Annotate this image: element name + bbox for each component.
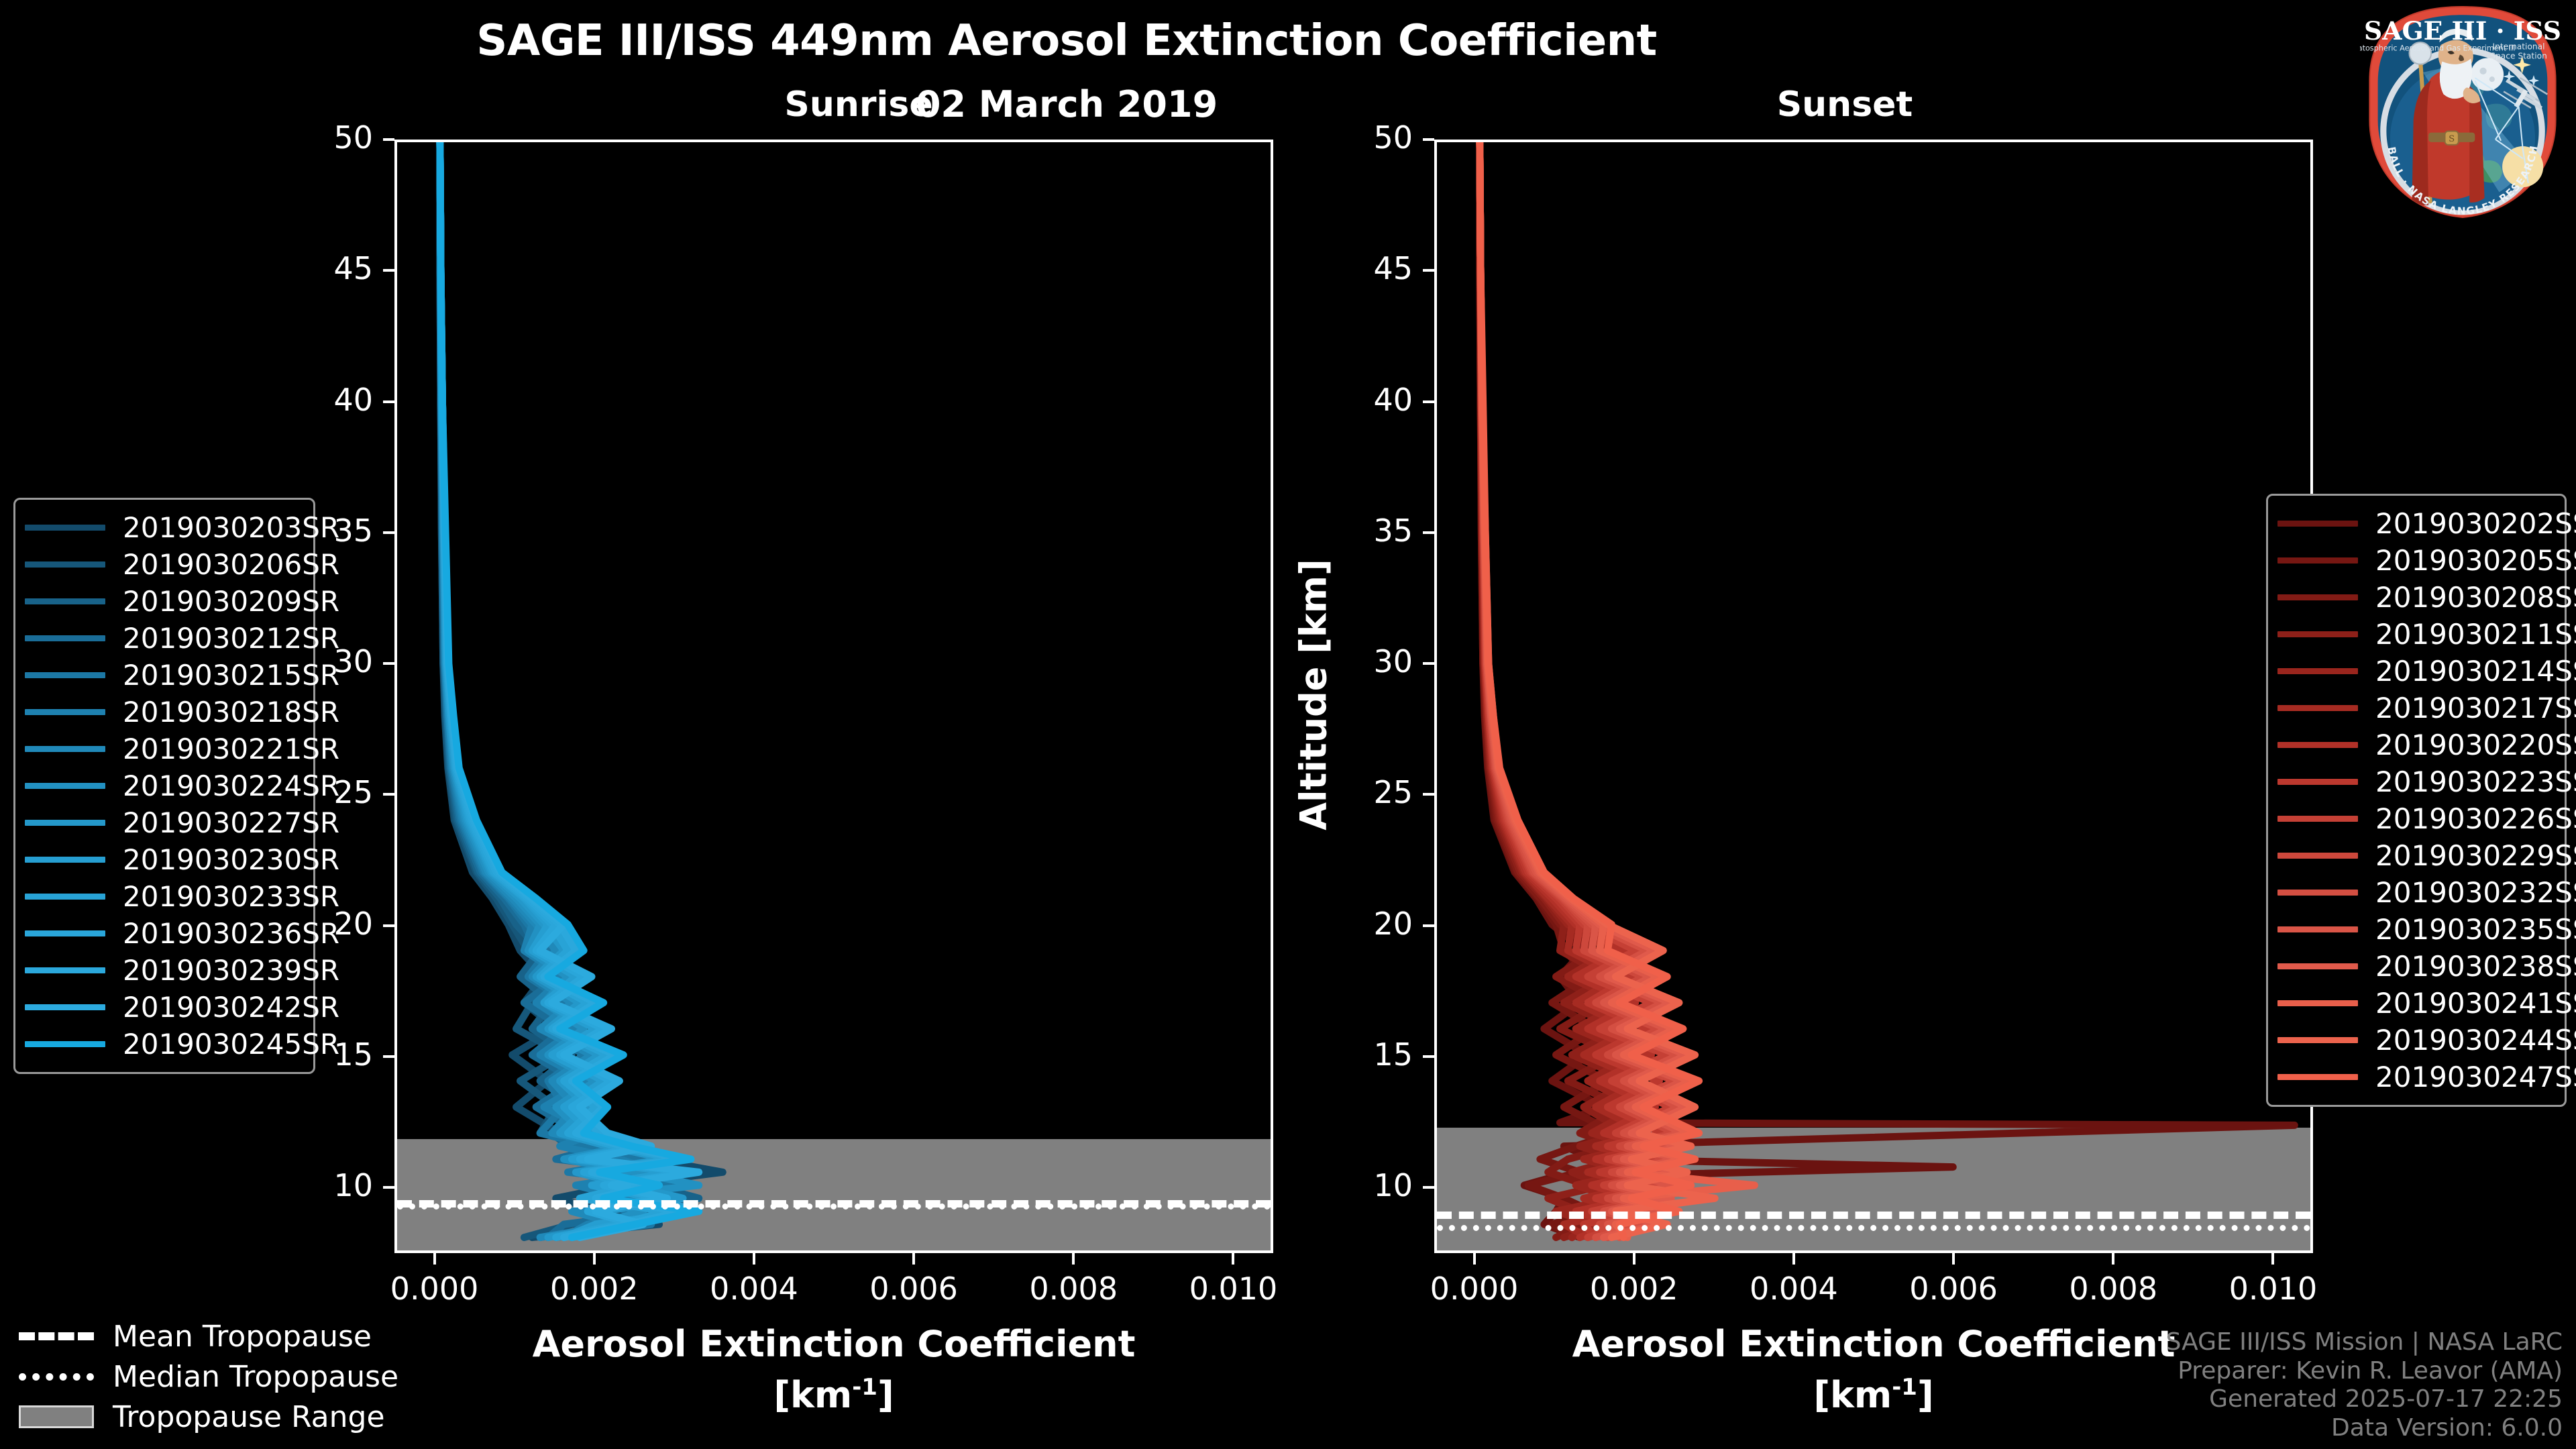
legend-item[interactable]: 2019030232SS	[2277, 874, 2553, 911]
legend-color-swatch	[2277, 779, 2358, 785]
legend-item[interactable]: 2019030203SR	[25, 509, 301, 546]
legend-color-swatch	[25, 783, 105, 789]
legend-item[interactable]: 2019030211SS	[2277, 616, 2553, 653]
legend-item-label: 2019030214SS	[2375, 655, 2576, 688]
x-tick-mark	[753, 1253, 755, 1265]
x-tick-mark	[593, 1253, 596, 1265]
legend-color-swatch	[2277, 816, 2358, 822]
legend-item-label: 2019030236SR	[123, 917, 339, 950]
legend-color-swatch	[2277, 631, 2358, 637]
x-tick-label: 0.004	[1707, 1271, 1881, 1307]
dashed-line-icon	[19, 1332, 98, 1340]
legend-color-swatch	[2277, 926, 2358, 932]
y-tick-mark	[383, 662, 394, 665]
credits-line-version: Data Version: 6.0.0	[2166, 1414, 2563, 1442]
mean-tropopause-line	[1437, 1212, 2310, 1219]
legend-item-label: 2019030247SS	[2375, 1061, 2576, 1093]
series-traces	[1437, 142, 2310, 1250]
y-tick-mark	[383, 1186, 394, 1189]
legend-item[interactable]: 2019030217SS	[2277, 690, 2553, 727]
legend-color-swatch	[2277, 594, 2358, 600]
x-tick-label: 0.006	[1866, 1271, 2041, 1307]
legend-color-swatch	[25, 672, 105, 678]
svg-text:S: S	[2449, 134, 2455, 144]
credits-line-preparer: Preparer: Kevin R. Leavor (AMA)	[2166, 1357, 2563, 1385]
sage3-iss-mission-patch-logo: S BALL · NASA LANGLEY RESEARCH CENTER · …	[2360, 4, 2565, 220]
legend-color-swatch	[2277, 1074, 2358, 1080]
legend-item-label: 2019030235SS	[2375, 913, 2576, 946]
legend-item[interactable]: 2019030238SS	[2277, 948, 2553, 985]
legend-color-swatch	[25, 820, 105, 826]
legend-item-label: 2019030245SR	[123, 1028, 339, 1061]
x-axis-title: Aerosol Extinction Coefficient	[314, 1323, 1354, 1365]
legend-color-swatch	[25, 525, 105, 531]
legend-item-label: 2019030208SS	[2375, 581, 2576, 614]
y-tick-mark	[383, 793, 394, 796]
legend-item[interactable]: 2019030245SR	[25, 1026, 301, 1063]
legend-item-label: 2019030244SS	[2375, 1024, 2576, 1057]
x-tick-mark	[912, 1253, 915, 1265]
legend-item[interactable]: 2019030229SS	[2277, 837, 2553, 874]
legend-item[interactable]: 2019030241SS	[2277, 985, 2553, 1022]
legend-color-swatch	[2277, 742, 2358, 748]
y-tick-label: 45	[1300, 250, 1413, 286]
x-tick-label: 0.008	[2026, 1271, 2200, 1307]
legend-item-label: 2019030220SS	[2375, 729, 2576, 761]
legend-item[interactable]: 2019030221SR	[25, 731, 301, 767]
x-tick-label: 0.008	[986, 1271, 1161, 1307]
legend-color-swatch	[25, 930, 105, 936]
x-tick-mark	[433, 1253, 436, 1265]
legend-item-median-tropopause: Median Tropopause	[19, 1356, 394, 1397]
legend-item[interactable]: 2019030227SR	[25, 804, 301, 841]
x-tick-mark	[1232, 1253, 1234, 1265]
x-tick-mark	[1792, 1253, 1795, 1265]
legend-item-label: 2019030206SR	[123, 548, 339, 581]
legend-item-label: 2019030224SR	[123, 769, 339, 802]
patch-wizard-figure: S	[2404, 29, 2484, 205]
legend-label-mean-tropopause: Mean Tropopause	[113, 1320, 372, 1354]
legend-color-swatch	[2277, 963, 2358, 969]
legend-item[interactable]: 2019030224SR	[25, 767, 301, 804]
legend-item[interactable]: 2019030215SR	[25, 657, 301, 694]
legend-item[interactable]: 2019030244SS	[2277, 1022, 2553, 1059]
legend-item[interactable]: 2019030202SS	[2277, 505, 2553, 542]
y-tick-mark	[1423, 531, 1434, 534]
legend-item[interactable]: 2019030208SS	[2277, 579, 2553, 616]
y-tick-mark	[383, 400, 394, 403]
figure-canvas: SAGE III/ISS 449nm Aerosol Extinction Co…	[0, 0, 2576, 1449]
y-tick-mark	[1423, 793, 1434, 796]
legend-item-label: 2019030202SS	[2375, 507, 2576, 540]
legend-color-swatch	[25, 561, 105, 568]
legend-sunset[interactable]: 2019030202SS2019030205SS2019030208SS2019…	[2266, 494, 2567, 1107]
legend-color-swatch	[2277, 1000, 2358, 1006]
legend-item[interactable]: 2019030218SR	[25, 694, 301, 731]
plot-area-sunrise	[394, 140, 1273, 1253]
x-tick-mark	[1473, 1253, 1476, 1265]
legend-item[interactable]: 2019030235SS	[2277, 911, 2553, 948]
x-tick-mark	[1633, 1253, 1635, 1265]
x-tick-mark	[1072, 1253, 1075, 1265]
legend-item[interactable]: 2019030236SR	[25, 915, 301, 952]
legend-item[interactable]: 2019030242SR	[25, 989, 301, 1026]
legend-color-swatch	[25, 857, 105, 863]
legend-color-swatch	[25, 635, 105, 641]
legend-item-label: 2019030215SR	[123, 659, 339, 692]
x-tick-label: 0.010	[2186, 1271, 2360, 1307]
y-tick-label: 40	[1300, 382, 1413, 418]
legend-item[interactable]: 2019030233SR	[25, 878, 301, 915]
legend-item[interactable]: 2019030247SS	[2277, 1059, 2553, 1095]
legend-sunrise[interactable]: 2019030203SR2019030206SR2019030209SR2019…	[13, 498, 315, 1074]
y-tick-label: 20	[1300, 906, 1413, 942]
legend-item[interactable]: 2019030212SR	[25, 620, 301, 657]
legend-color-swatch	[25, 746, 105, 752]
series-line	[440, 142, 683, 1238]
legend-item[interactable]: 2019030239SR	[25, 952, 301, 989]
legend-label-median-tropopause: Median Tropopause	[113, 1360, 398, 1394]
y-tick-mark	[1423, 1186, 1434, 1189]
y-tick-label: 50	[260, 119, 373, 156]
legend-item-label: 2019030217SS	[2375, 692, 2576, 724]
y-tick-label: 40	[260, 382, 373, 418]
x-tick-label: 0.000	[1387, 1271, 1562, 1307]
y-tick-mark	[1423, 400, 1434, 403]
legend-item-label: 2019030241SS	[2375, 987, 2576, 1020]
legend-item-label: 2019030239SR	[123, 954, 339, 987]
y-tick-mark	[1423, 924, 1434, 927]
legend-label-tropopause-range: Tropopause Range	[113, 1400, 385, 1434]
x-tick-label: 0.000	[347, 1271, 522, 1307]
patch-subtitle-right-2: Space Station	[2490, 52, 2547, 61]
legend-item-label: 2019030226SS	[2375, 802, 2576, 835]
legend-color-swatch	[2277, 668, 2358, 674]
legend-color-swatch	[25, 1004, 105, 1010]
credits-line-generated: Generated 2025-07-17 22:25	[2166, 1385, 2563, 1413]
legend-item-label: 2019030238SS	[2375, 950, 2576, 983]
legend-item[interactable]: 2019030226SS	[2277, 800, 2553, 837]
legend-color-swatch	[25, 967, 105, 973]
legend-item[interactable]: 2019030220SS	[2277, 727, 2553, 763]
x-tick-mark	[2112, 1253, 2114, 1265]
y-tick-mark	[383, 138, 394, 141]
legend-item-label: 2019030229SS	[2375, 839, 2576, 872]
x-tick-mark	[1952, 1253, 1955, 1265]
x-tick-label: 0.006	[826, 1271, 1001, 1307]
legend-color-swatch	[2277, 1037, 2358, 1043]
legend-item[interactable]: 2019030214SS	[2277, 653, 2553, 690]
median-tropopause-line	[397, 1203, 1271, 1210]
y-tick-mark	[383, 269, 394, 272]
y-tick-mark	[1423, 138, 1434, 141]
gray-swatch-icon	[19, 1405, 98, 1428]
plot-area-sunset	[1434, 140, 2313, 1253]
legend-color-swatch	[25, 1041, 105, 1047]
y-tick-label: 45	[260, 250, 373, 286]
legend-item-label: 2019030212SR	[123, 622, 339, 655]
y-tick-label: 10	[1300, 1167, 1413, 1203]
legend-item[interactable]: 2019030209SR	[25, 583, 301, 620]
panel-title-sunrise: Sunrise	[671, 85, 1046, 125]
y-tick-mark	[383, 1055, 394, 1058]
y-tick-mark	[383, 531, 394, 534]
panel-title-sunset: Sunset	[1657, 85, 2033, 125]
legend-item-label: 2019030205SS	[2375, 544, 2576, 577]
x-tick-label: 0.004	[667, 1271, 841, 1307]
legend-color-swatch	[25, 894, 105, 900]
y-axis-title: Altitude [km]	[1293, 534, 1335, 856]
legend-color-swatch	[2277, 890, 2358, 896]
patch-subtitle-right-1: International	[2493, 42, 2545, 51]
x-axis-units: [km-1]	[314, 1374, 1354, 1416]
legend-color-swatch	[25, 598, 105, 604]
credits-line-mission: SAGE III/ISS Mission | NASA LaRC	[2166, 1328, 2563, 1356]
legend-item-label: 2019030218SR	[123, 696, 339, 729]
legend-item[interactable]: 2019030230SR	[25, 841, 301, 878]
y-tick-label: 10	[260, 1167, 373, 1203]
y-tick-label: 15	[1300, 1036, 1413, 1073]
legend-item-label: 2019030230SR	[123, 843, 339, 876]
legend-item-label: 2019030211SS	[2375, 618, 2576, 651]
x-tick-label: 0.002	[1547, 1271, 1721, 1307]
legend-color-swatch	[2277, 853, 2358, 859]
x-tick-label: 0.010	[1146, 1271, 1320, 1307]
y-tick-mark	[1423, 662, 1434, 665]
legend-item-label: 2019030223SS	[2375, 765, 2576, 798]
median-tropopause-line	[1437, 1225, 2310, 1231]
legend-item-label: 2019030242SR	[123, 991, 339, 1024]
legend-item[interactable]: 2019030206SR	[25, 546, 301, 583]
y-tick-label: 50	[1300, 119, 1413, 156]
legend-color-swatch	[2277, 557, 2358, 563]
legend-color-swatch	[2277, 705, 2358, 711]
legend-item-label: 2019030233SR	[123, 880, 339, 913]
legend-tropopause: Mean Tropopause Median Tropopause Tropop…	[19, 1316, 394, 1437]
legend-item[interactable]: 2019030205SS	[2277, 542, 2553, 579]
legend-item[interactable]: 2019030223SS	[2277, 763, 2553, 800]
legend-item-label: 2019030203SR	[123, 511, 339, 544]
y-tick-mark	[383, 924, 394, 927]
x-tick-mark	[2271, 1253, 2274, 1265]
series-traces	[397, 142, 1271, 1250]
credits-block: SAGE III/ISS Mission | NASA LaRC Prepare…	[2166, 1328, 2563, 1442]
legend-item-label: 2019030232SS	[2375, 876, 2576, 909]
x-tick-label: 0.002	[507, 1271, 682, 1307]
legend-item-mean-tropopause: Mean Tropopause	[19, 1316, 394, 1356]
dotted-line-icon	[19, 1373, 98, 1381]
legend-color-swatch	[2277, 521, 2358, 527]
legend-item-tropopause-range: Tropopause Range	[19, 1397, 394, 1437]
legend-item-label: 2019030227SR	[123, 806, 339, 839]
legend-color-swatch	[25, 709, 105, 715]
legend-item-label: 2019030221SR	[123, 733, 339, 765]
legend-item-label: 2019030209SR	[123, 585, 339, 618]
figure-title: SAGE III/ISS 449nm Aerosol Extinction Co…	[0, 16, 2133, 66]
y-tick-mark	[1423, 269, 1434, 272]
y-tick-mark	[1423, 1055, 1434, 1058]
